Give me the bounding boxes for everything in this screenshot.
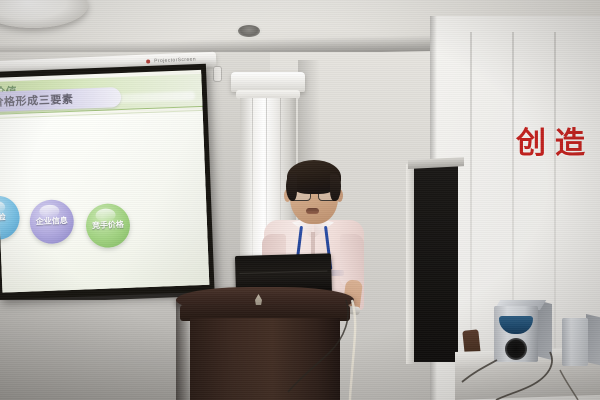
- laptop-seam: [239, 270, 327, 273]
- subwoofer-port-icon: [505, 338, 527, 360]
- equipment-table-edge: [455, 365, 600, 400]
- sleeve-right: [340, 234, 364, 286]
- mouth: [306, 208, 319, 214]
- hair-side-left: [286, 174, 297, 201]
- recessed-downlight-icon: [238, 25, 260, 37]
- column-capital: [231, 72, 305, 92]
- satellite-front: [562, 318, 588, 366]
- shirt-pocket-logo: [330, 270, 344, 276]
- wall-banner-text: 创造: [516, 118, 594, 162]
- dark-doorway: [414, 166, 458, 362]
- projection-screen: 的价值 顾客价格形成三要素 经验 企业信息 竞手价格: [0, 64, 215, 300]
- housing-brand-label: ProjectorScreen: [154, 57, 196, 65]
- satellite-speaker: [562, 318, 600, 366]
- slide-body: [0, 110, 209, 293]
- projected-slide: 的价值 顾客价格形成三要素 经验 企业信息 竞手价格: [0, 70, 209, 293]
- housing-brand-dot-icon: [146, 59, 150, 63]
- subwoofer-front: [494, 306, 538, 362]
- conference-room-photo: 创造 ProjectorScreen 的价值 顾客价格形成三要素 经验 企业信息: [0, 0, 600, 400]
- column-flute: [252, 98, 253, 274]
- panel-groove: [470, 32, 472, 362]
- podium-body: [190, 318, 340, 400]
- subwoofer-blue-panel: [499, 316, 533, 334]
- panel-groove: [554, 32, 556, 362]
- screen-mount-bracket: [213, 66, 222, 82]
- subwoofer-speaker: [494, 300, 552, 362]
- satellite-side: [586, 314, 600, 365]
